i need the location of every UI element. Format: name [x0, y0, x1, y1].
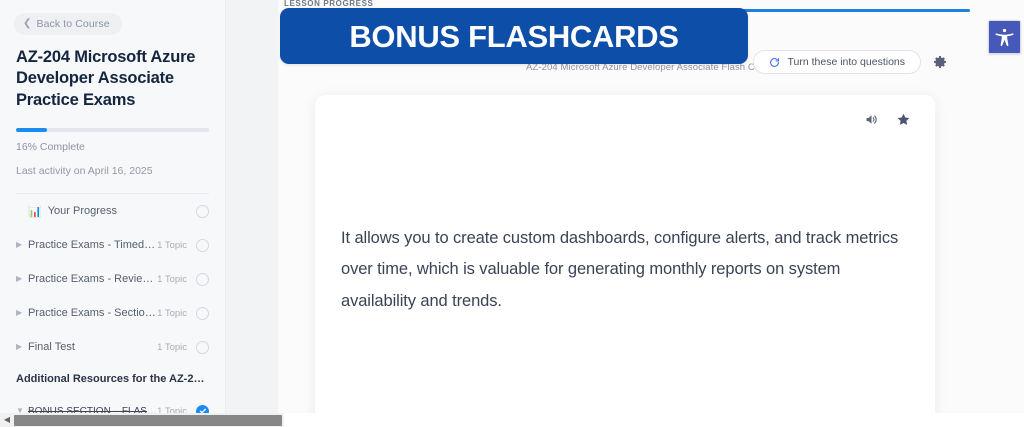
- completed-check-icon[interactable]: [196, 405, 209, 413]
- banner-title: BONUS FLASHCARDS: [349, 21, 678, 52]
- flashcard-text: It allows you to create custom dashboard…: [341, 223, 901, 317]
- sidebar-gap: [226, 0, 278, 413]
- incomplete-circle-icon[interactable]: [196, 239, 209, 252]
- expand-caret-icon[interactable]: ▶: [16, 241, 28, 249]
- sidebar-item-label: BONUS SECTION – FLASHCARDS: [28, 406, 157, 413]
- last-activity-text: Last activity on April 16, 2025: [16, 164, 209, 180]
- course-progress-fill: [16, 128, 47, 132]
- expand-caret-icon[interactable]: ▶: [16, 309, 28, 317]
- sidebar-item-label: Your Progress: [48, 205, 187, 217]
- sidebar-item[interactable]: ▼BONUS SECTION – FLASHCARDS1 Topic: [0, 394, 225, 413]
- sidebar-item-topic-count: 1 Topic: [157, 406, 187, 413]
- course-sidebar: ❮ Back to Course AZ-204 Microsoft Azure …: [0, 0, 226, 413]
- sidebar-item[interactable]: ▶Practice Exams - Review Mode1 Topic: [0, 262, 225, 296]
- back-to-course-label: Back to Course: [36, 18, 109, 30]
- turn-into-questions-label: Turn these into questions: [787, 56, 905, 68]
- bar-chart-icon: 📊: [28, 205, 42, 218]
- incomplete-circle-icon[interactable]: [196, 273, 209, 286]
- sidebar-item-topic-count: 1 Topic: [157, 342, 187, 353]
- expand-caret-icon[interactable]: ▶: [16, 343, 28, 351]
- page-bottom-strip: [284, 413, 1024, 427]
- back-to-course-button[interactable]: ❮ Back to Course: [14, 13, 122, 35]
- sidebar-item[interactable]: 📊Your Progress: [0, 194, 225, 228]
- sidebar-item-label: Additional Resources for the AZ-204 Mic…: [16, 373, 209, 385]
- sidebar-item-topic-count: 1 Topic: [157, 240, 187, 251]
- horizontal-scrollbar[interactable]: ◀: [0, 413, 284, 427]
- sidebar-item-label: Final Test: [28, 341, 157, 353]
- sidebar-item-topic-count: 1 Topic: [157, 274, 187, 285]
- sidebar-nav-list: 📊Your Progress▶Practice Exams - Timed Mo…: [0, 194, 225, 413]
- flashcard[interactable]: It allows you to create custom dashboard…: [315, 95, 935, 413]
- sidebar-item[interactable]: ▶Practice Exams - Timed Mode1 Topic: [0, 228, 225, 262]
- refresh-icon: [769, 57, 780, 68]
- incomplete-circle-icon[interactable]: [196, 205, 209, 218]
- scroll-left-arrow-icon[interactable]: ◀: [0, 416, 14, 424]
- lesson-content: LESSON PROGRESS Flashcards AZ-204 Micros…: [278, 0, 1024, 413]
- accessibility-person-icon: [994, 27, 1015, 48]
- expand-caret-icon[interactable]: ▶: [16, 275, 28, 283]
- accessibility-widget-button[interactable]: [988, 20, 1021, 54]
- sidebar-item[interactable]: ▶Final Test1 Topic: [0, 330, 225, 364]
- course-progress-bar: [16, 128, 209, 132]
- star-icon[interactable]: [896, 112, 911, 127]
- card-actions: Turn these into questions: [753, 50, 948, 74]
- incomplete-circle-icon[interactable]: [196, 307, 209, 320]
- bonus-flashcards-banner: BONUS FLASHCARDS: [280, 8, 748, 64]
- sidebar-item-label: Practice Exams - Review Mode: [28, 273, 157, 285]
- flashcard-icon-row: [864, 112, 911, 127]
- sidebar-item[interactable]: ▶Practice Exams - Section-Based1 Topic: [0, 296, 225, 330]
- lesson-progress-label: LESSON PROGRESS: [284, 0, 373, 8]
- page-root: ❮ Back to Course AZ-204 Microsoft Azure …: [0, 0, 1024, 427]
- scrollbar-thumb[interactable]: [14, 415, 282, 426]
- progress-percent-text: 16% Complete: [16, 140, 209, 156]
- sidebar-item-label: Practice Exams - Section-Based: [28, 307, 157, 319]
- sidebar-item-topic-count: 1 Topic: [157, 308, 187, 319]
- chevron-left-icon: ❮: [23, 19, 31, 29]
- incomplete-circle-icon[interactable]: [196, 341, 209, 354]
- speaker-icon[interactable]: [864, 112, 879, 127]
- turn-into-questions-button[interactable]: Turn these into questions: [753, 50, 921, 74]
- sidebar-item-label: Practice Exams - Timed Mode: [28, 239, 157, 251]
- sidebar-section-header[interactable]: Additional Resources for the AZ-204 Mic…: [0, 364, 225, 394]
- course-title: AZ-204 Microsoft Azure Developer Associa…: [16, 47, 209, 111]
- gear-icon[interactable]: [932, 54, 948, 70]
